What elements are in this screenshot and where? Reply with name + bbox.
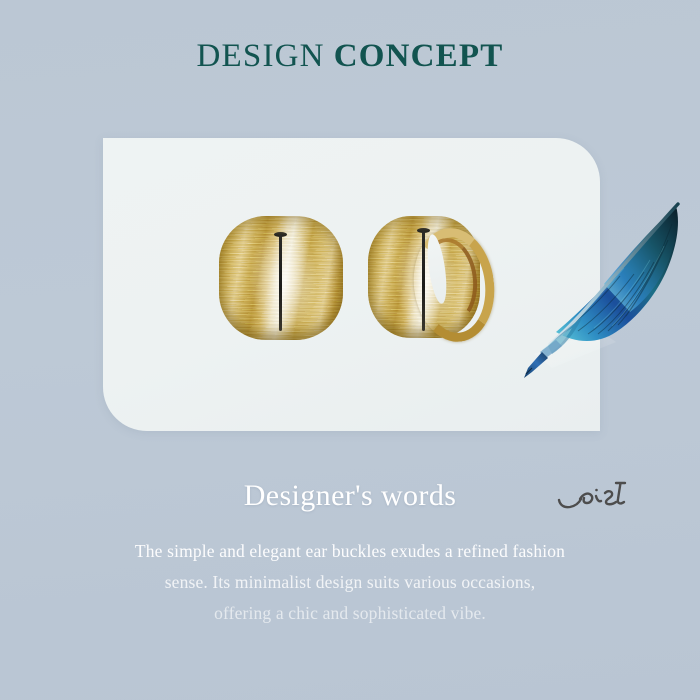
ear-buckle-front	[219, 216, 343, 340]
earring-post	[279, 235, 282, 331]
designer-words-heading: Designer's words	[0, 479, 700, 513]
title-word-design: DESIGN	[197, 38, 325, 74]
earring-post	[422, 231, 425, 331]
ear-buckle-side	[368, 212, 502, 342]
slide-canvas: DESIGNCONCEPT	[0, 0, 700, 700]
quill-nib	[524, 352, 548, 378]
designer-words-line-3: offering a chic and sophisticated vibe.	[0, 598, 700, 629]
feather-quill-icon	[512, 192, 700, 382]
page-title: DESIGNCONCEPT	[0, 40, 700, 73]
title-word-concept: CONCEPT	[334, 38, 504, 74]
designer-words-line-1: The simple and elegant ear buckles exude…	[0, 536, 700, 567]
designer-words-body: The simple and elegant ear buckles exude…	[0, 536, 700, 629]
designer-words-line-2: sense. Its minimalist design suits vario…	[0, 567, 700, 598]
